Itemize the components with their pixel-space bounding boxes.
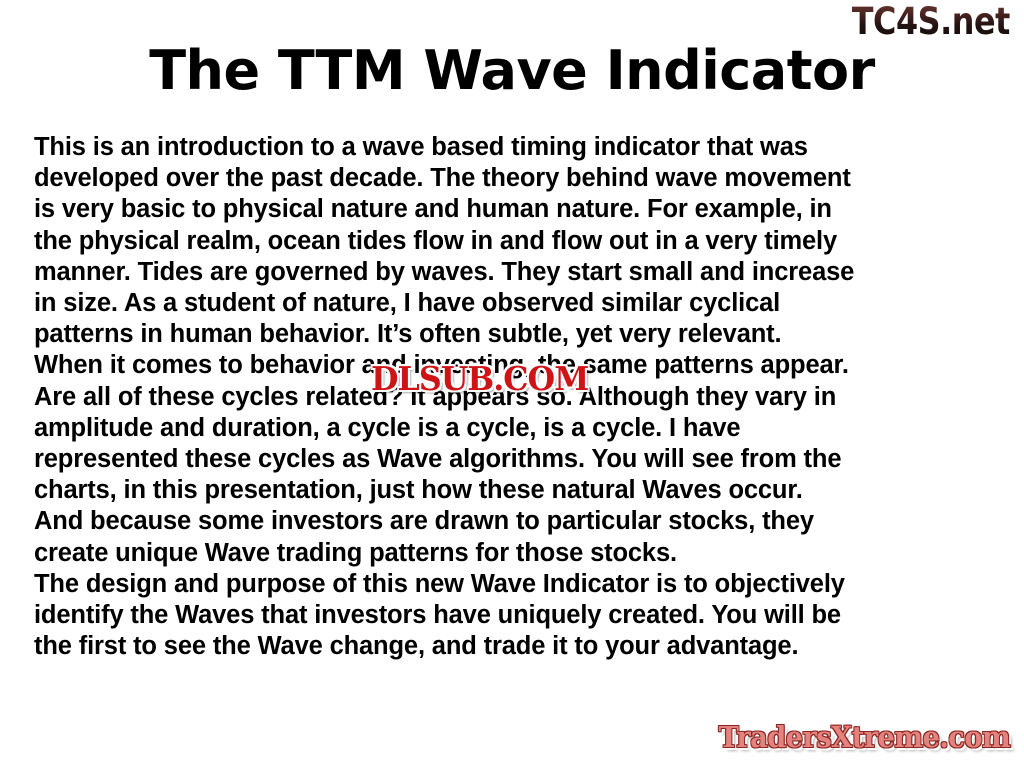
text-line: developed over the past decade. The theo… [34,163,1006,194]
text-line: identify the Waves that investors have u… [34,600,1006,631]
text-line: in size. As a student of nature, I have … [34,288,1006,319]
presentation-slide: TC4S.net The TTM Wave Indicator This is … [0,0,1024,768]
text-line: the first to see the Wave change, and tr… [34,631,1006,662]
text-line: create unique Wave trading patterns for … [34,538,1006,569]
tradersxtreme-logo: TradersXtreme.com [718,720,1010,754]
text-line: represented these cycles as Wave algorit… [34,444,1006,475]
tc4s-logo: TC4S.net [852,2,1010,42]
text-line: amplitude and duration, a cycle is a cyc… [34,413,1006,444]
paragraph-1: This is an introduction to a wave based … [34,132,1006,382]
text-line: This is an introduction to a wave based … [34,132,1006,163]
paragraph-2: Are all of these cycles related? It appe… [34,382,1006,569]
text-line: When it comes to behavior and investing,… [34,350,1006,381]
paragraph-3: The design and purpose of this new Wave … [34,569,1006,663]
text-line: And because some investors are drawn to … [34,506,1006,537]
body-text: This is an introduction to a wave based … [34,132,1006,662]
text-line: the physical realm, ocean tides flow in … [34,226,1006,257]
text-line: patterns in human behavior. It’s often s… [34,319,1006,350]
text-line: is very basic to physical nature and hum… [34,194,1006,225]
text-line: The design and purpose of this new Wave … [34,569,1006,600]
text-line: charts, in this presentation, just how t… [34,475,1006,506]
text-line: manner. Tides are governed by waves. The… [34,257,1006,288]
text-line: Are all of these cycles related? It appe… [34,382,1006,413]
page-title: The TTM Wave Indicator [0,40,1024,102]
